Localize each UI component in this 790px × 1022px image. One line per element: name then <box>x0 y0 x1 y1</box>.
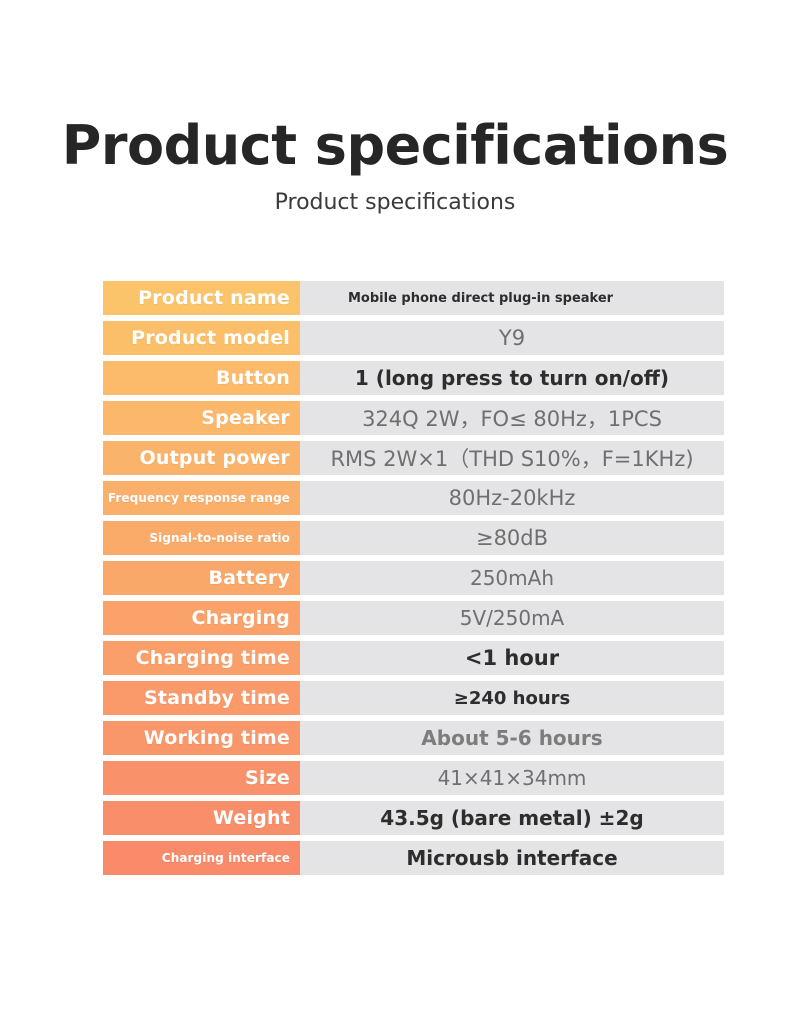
specifications-table: Product nameMobile phone direct plug-in … <box>103 281 724 881</box>
spec-label: Button <box>103 361 300 395</box>
spec-value: Microusb interface <box>300 841 724 875</box>
table-row: Speaker324Q 2W，FO≤ 80Hz，1PCS <box>103 401 724 435</box>
spec-value: Y9 <box>300 321 724 355</box>
table-row: Working timeAbout 5-6 hours <box>103 721 724 755</box>
spec-label: Frequency response range <box>103 481 300 515</box>
spec-label: Product name <box>103 281 300 315</box>
spec-value: 1 (long press to turn on/off) <box>300 361 724 395</box>
table-row: Output powerRMS 2W×1（THD S10%，F=1KHz) <box>103 441 724 475</box>
spec-value: <1 hour <box>300 641 724 675</box>
spec-value: 80Hz-20kHz <box>300 481 724 515</box>
table-row: Charging5V/250mA <box>103 601 724 635</box>
spec-label: Charging <box>103 601 300 635</box>
spec-label: Product model <box>103 321 300 355</box>
spec-value: 5V/250mA <box>300 601 724 635</box>
spec-label: Working time <box>103 721 300 755</box>
table-row: Size41×41×34mm <box>103 761 724 795</box>
page-title: Product specifications <box>0 118 790 175</box>
table-row: Standby time≥240 hours <box>103 681 724 715</box>
table-row: Battery250mAh <box>103 561 724 595</box>
spec-value: 324Q 2W，FO≤ 80Hz，1PCS <box>300 401 724 435</box>
table-row: Frequency response range80Hz-20kHz <box>103 481 724 515</box>
spec-value: 41×41×34mm <box>300 761 724 795</box>
spec-value: ≥80dB <box>300 521 724 555</box>
spec-value: RMS 2W×1（THD S10%，F=1KHz) <box>300 441 724 475</box>
spec-value: 250mAh <box>300 561 724 595</box>
table-row: Product nameMobile phone direct plug-in … <box>103 281 724 315</box>
spec-label: Weight <box>103 801 300 835</box>
table-row: Charging interfaceMicrousb interface <box>103 841 724 875</box>
spec-label: Size <box>103 761 300 795</box>
spec-label: Speaker <box>103 401 300 435</box>
table-row: Signal-to-noise ratio≥80dB <box>103 521 724 555</box>
page-subtitle: Product specifications <box>0 191 790 215</box>
spec-label: Signal-to-noise ratio <box>103 521 300 555</box>
spec-label: Battery <box>103 561 300 595</box>
spec-value: 43.5g (bare metal) ±2g <box>300 801 724 835</box>
spec-value: Mobile phone direct plug-in speaker <box>300 281 724 315</box>
table-row: Button1 (long press to turn on/off) <box>103 361 724 395</box>
spec-value: About 5-6 hours <box>300 721 724 755</box>
table-row: Charging time<1 hour <box>103 641 724 675</box>
spec-label: Output power <box>103 441 300 475</box>
page-header: Product specifications Product specifica… <box>0 118 790 215</box>
product-specifications-page: Product specifications Product specifica… <box>0 0 790 1022</box>
spec-label: Standby time <box>103 681 300 715</box>
spec-label: Charging interface <box>103 841 300 875</box>
table-row: Weight43.5g (bare metal) ±2g <box>103 801 724 835</box>
table-row: Product modelY9 <box>103 321 724 355</box>
spec-value: ≥240 hours <box>300 681 724 715</box>
spec-label: Charging time <box>103 641 300 675</box>
